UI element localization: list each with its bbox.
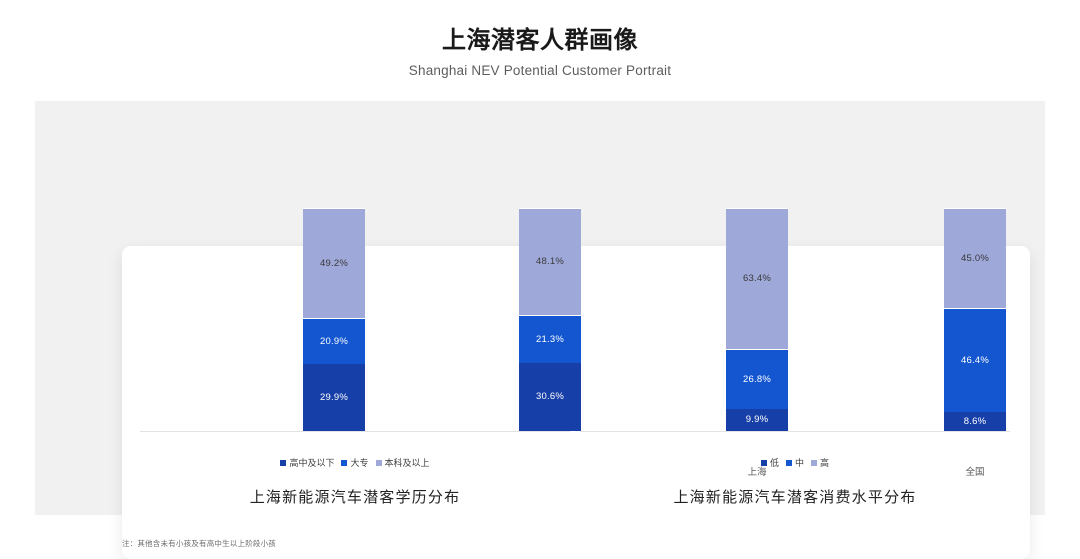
legend-label: 低 <box>770 456 779 469</box>
page-header: 上海潜客人群画像 Shanghai NEV Potential Customer… <box>0 0 1080 78</box>
legend-consumption: 低中高 <box>580 456 1010 469</box>
bar-segment: 29.9% <box>303 364 365 431</box>
bar-segment: 30.6% <box>519 363 581 431</box>
bar-segment: 9.9% <box>726 409 788 431</box>
chart-caption-consumption: 上海新能源汽车潜客消费水平分布 <box>580 486 1010 507</box>
bar-segment: 63.4% <box>726 208 788 349</box>
legend-label: 中 <box>795 456 804 469</box>
x-axis-line <box>580 431 1010 432</box>
bar-value-label: 48.1% <box>536 257 564 267</box>
bar-value-label: 26.8% <box>743 375 771 385</box>
plot-area-consumption: 9.9%26.8%63.4% 8.6%46.4%45.0% 上海 全国 <box>580 274 1010 432</box>
bar-segment: 21.3% <box>519 315 581 362</box>
legend-swatch-icon <box>341 460 347 466</box>
stacked-bar: 30.6%21.3%48.1% <box>519 208 581 431</box>
page-subtitle: Shanghai NEV Potential Customer Portrait <box>0 56 1080 78</box>
legend-swatch-icon <box>811 460 817 466</box>
bar-segment: 48.1% <box>519 208 581 315</box>
bar-value-label: 8.6% <box>964 417 986 427</box>
x-axis-line <box>140 431 570 432</box>
legend-label: 高中及以下 <box>289 456 334 469</box>
bar-value-label: 30.6% <box>536 392 564 402</box>
chart-card: 29.9%20.9%49.2% 30.6%21.3%48.1% 高中及以下大专本… <box>122 246 1030 559</box>
chart-caption-education: 上海新能源汽车潜客学历分布 <box>140 486 570 507</box>
legend-swatch-icon <box>280 460 286 466</box>
chart-education: 29.9%20.9%49.2% 30.6%21.3%48.1% 高中及以下大专本… <box>140 246 570 559</box>
bar-value-label: 29.9% <box>320 393 348 403</box>
legend-item[interactable]: 本科及以上 <box>376 456 430 469</box>
stacked-bar: 8.6%46.4%45.0% <box>944 208 1006 431</box>
chart-consumption: 9.9%26.8%63.4% 8.6%46.4%45.0% 上海 全国 低中高 … <box>580 246 1010 559</box>
legend-swatch-icon <box>761 460 767 466</box>
legend-swatch-icon <box>376 460 382 466</box>
legend-label: 大专 <box>350 456 368 469</box>
legend-label: 高 <box>820 456 829 469</box>
stacked-bar: 9.9%26.8%63.4% <box>726 208 788 431</box>
bar-segment: 20.9% <box>303 318 365 365</box>
plot-area-education: 29.9%20.9%49.2% 30.6%21.3%48.1% <box>140 274 570 432</box>
bar-value-label: 21.3% <box>536 335 564 345</box>
legend-label: 本科及以上 <box>385 456 430 469</box>
bar-segment: 46.4% <box>944 308 1006 411</box>
legend-item[interactable]: 低 <box>761 456 779 469</box>
legend-item[interactable]: 大专 <box>341 456 368 469</box>
legend-item[interactable]: 高 <box>811 456 829 469</box>
slide-panel: 29.9%20.9%49.2% 30.6%21.3%48.1% 高中及以下大专本… <box>35 101 1045 515</box>
bar-segment: 49.2% <box>303 208 365 318</box>
legend-education: 高中及以下大专本科及以上 <box>140 456 570 469</box>
legend-item[interactable]: 高中及以下 <box>280 456 334 469</box>
legend-item[interactable]: 中 <box>786 456 804 469</box>
bar-segment: 26.8% <box>726 349 788 409</box>
charts-row: 29.9%20.9%49.2% 30.6%21.3%48.1% 高中及以下大专本… <box>122 246 1030 559</box>
bar-value-label: 20.9% <box>320 337 348 347</box>
bar-segment: 8.6% <box>944 412 1006 431</box>
bar-segment: 45.0% <box>944 208 1006 308</box>
bar-value-label: 49.2% <box>320 259 348 269</box>
stacked-bar: 29.9%20.9%49.2% <box>303 208 365 431</box>
bar-value-label: 45.0% <box>961 254 989 264</box>
page-title: 上海潜客人群画像 <box>0 0 1080 56</box>
bar-value-label: 9.9% <box>746 415 768 425</box>
chart-footnote: 注：其他含未有小孩及有高中生以上阶段小孩 <box>122 538 276 549</box>
bar-value-label: 46.4% <box>961 356 989 366</box>
bar-value-label: 63.4% <box>743 274 771 284</box>
legend-swatch-icon <box>786 460 792 466</box>
